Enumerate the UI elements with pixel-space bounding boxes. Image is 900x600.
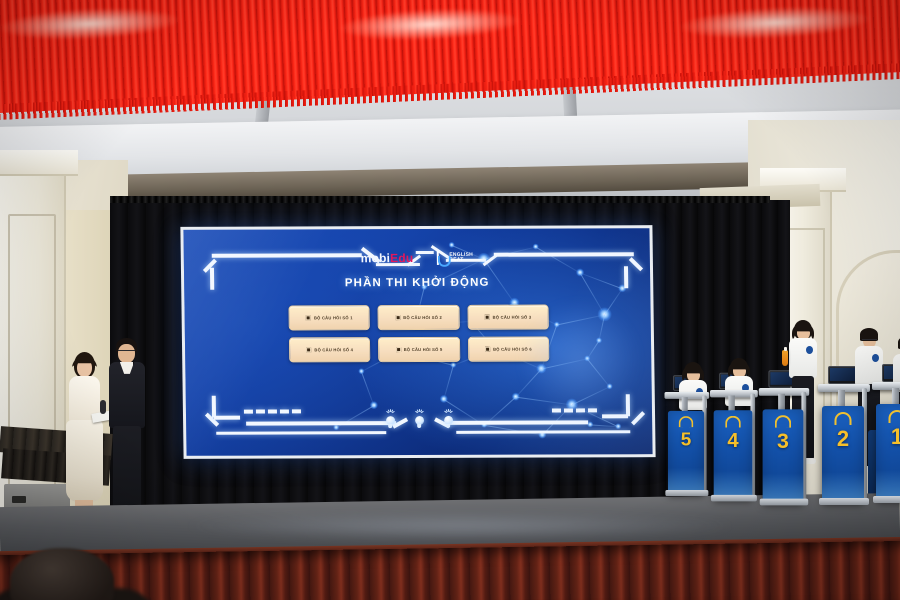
network-edge [587,359,610,388]
network-edge [361,372,374,406]
glasses-icon [118,350,135,354]
podium-number: 5 [668,430,704,449]
podium-emblem-icon [889,410,900,423]
network-edge [515,369,541,398]
curtain-track [110,196,770,203]
english-beat-mark-icon [435,251,447,265]
podium-base [819,498,869,505]
network-edge [572,386,610,405]
lightbulb-icon [383,413,396,429]
screen-title: PHẦN THI KHỞI ĐỘNG [184,276,650,290]
led-screen[interactable]: mobiEdu ENGLISH BEAT PHẦN THI KHỞI ĐỘNG [180,225,655,459]
lightbulb-ray [391,411,394,414]
question-set-label: BỘ CÂU HỎI SỐ 3 [493,315,532,320]
mobiedu-logo-part2: Edu [390,251,413,265]
contestant-logo-badge [872,354,879,362]
contestant-polo [855,346,883,386]
auditorium-stage-photo: mobiEdu ENGLISH BEAT PHẦN THI KHỞI ĐỘNG [0,0,900,600]
glasses-icon [862,339,877,342]
question-set-button-6[interactable]: BỘ CÂU HỎI SỐ 6 [468,337,550,362]
mobiedu-logo-part1: mobi [361,251,391,265]
question-set-label: BỘ CÂU HỎI SỐ 2 [403,315,442,320]
question-set-button-4[interactable]: BỘ CÂU HỎI SỐ 4 [289,337,371,362]
lightbulb-icon [441,413,454,429]
english-beat-line2: BEAT [449,257,463,263]
network-edge [443,365,453,399]
podium-base [665,490,708,496]
english-beat-logo: ENGLISH BEAT [435,251,473,265]
podium-emblem-icon [775,415,791,428]
question-set-label: BỘ CÂU HỎI SỐ 5 [404,347,443,352]
laptop [828,366,858,384]
question-set-icon [306,315,311,320]
network-edge [557,314,605,325]
podium-number: 4 [714,430,753,450]
lightbulb-icon [412,413,425,429]
question-set-icon [395,315,400,320]
question-set-icon [485,347,490,352]
question-set-label: BỘ CÂU HỎI SỐ 1 [314,315,353,320]
valance-glare [339,5,520,43]
mc-woman-skirt [66,420,103,502]
lightbulb-base [388,424,392,428]
question-set-button-3[interactable]: BỘ CÂU HỎI SỐ 3 [467,305,549,330]
screen-bezel: mobiEdu ENGLISH BEAT PHẦN THI KHỞI ĐỘNG [180,225,655,459]
question-set-label: BỘ CÂU HỎI SỐ 6 [493,347,532,352]
water-bottle [782,350,788,366]
podium-emblem-icon [835,412,852,425]
lightbulb-base [446,424,450,428]
valance-glare [0,5,180,43]
screen-logos: mobiEdu ENGLISH BEAT [184,250,650,266]
english-beat-logo-text: ENGLISH BEAT [449,253,473,264]
pillar-cap-left [0,150,78,176]
question-set-icon [485,315,490,320]
podium-number: 3 [763,431,804,452]
mobiedu-logo: mobiEdu [361,252,414,264]
podium-panel: 5 [668,411,704,494]
podium-panel: 2 [822,406,864,502]
lightbulb-row [186,412,652,430]
screen-surface: mobiEdu ENGLISH BEAT PHẦN THI KHỞI ĐỘNG [183,228,652,456]
podium-base [711,495,757,501]
podium-panel: 4 [714,410,753,498]
network-edge [587,341,600,360]
question-set-button-5[interactable]: BỘ CÂU HỎI SỐ 5 [378,337,460,362]
network-edge [604,289,622,316]
question-set-icon [306,347,311,352]
lightbulb-base [417,424,421,428]
network-edge [516,397,572,406]
microphone-icon [100,400,106,414]
podium-emblem-icon [679,416,694,427]
question-set-label: BỘ CÂU HỎI SỐ 4 [314,347,353,352]
podium-number: 2 [822,428,864,450]
podium-base [760,499,809,506]
question-set-button-2[interactable]: BỘ CÂU HỎI SỐ 2 [378,305,460,330]
podium-panel: 1 [876,404,900,500]
podium-base [873,496,900,503]
floor-reflection [180,512,740,540]
podium-number: 1 [876,426,900,448]
contestant-logo-badge [806,346,813,354]
podium-emblem-icon [725,416,741,428]
lightbulb-ray [449,411,452,414]
laptop-screen [830,368,856,381]
question-set-button-1[interactable]: BỘ CÂU HỎI SỐ 1 [288,305,370,330]
contestant-polo [789,338,817,378]
question-set-grid: BỘ CÂU HỎI SỐ 1 BỘ CÂU HỎI SỐ 2 BỘ CÂU H… [288,305,549,363]
podium-panel: 3 [763,409,804,502]
lightbulb-ray [420,411,423,414]
valance-glare [679,3,870,42]
question-set-icon [396,347,401,352]
